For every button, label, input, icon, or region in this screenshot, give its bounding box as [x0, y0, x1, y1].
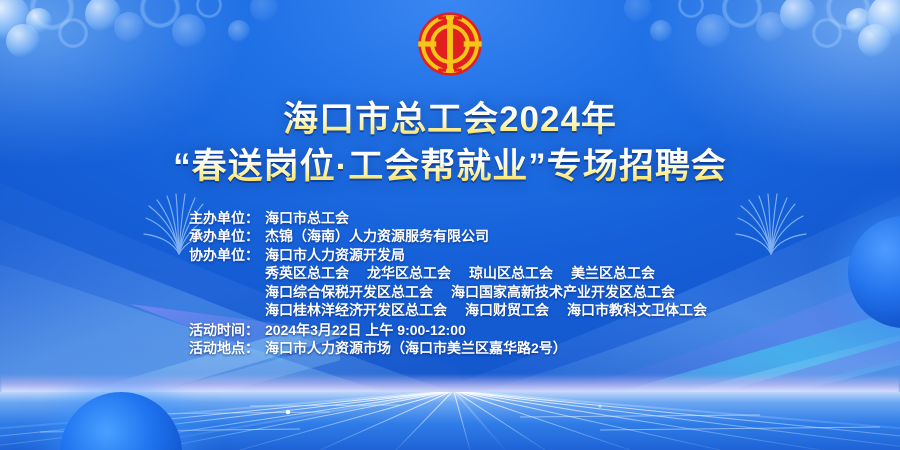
coorganizer-list-line-2: 海口综合保税开发区总工会 海口国家高新技术产业开发区总工会: [0, 283, 900, 301]
info-row-coorganizer: 协办单位： 海口市人力资源开发局: [0, 246, 900, 264]
host-value: 杰锦（海南）人力资源服务有限公司: [265, 227, 489, 245]
coorganizer-item: 琼山区总工会: [469, 264, 553, 282]
event-info-block: 主办单位： 海口市总工会 承办单位： 杰锦（海南）人力资源服务有限公司 协办单位…: [0, 209, 900, 358]
info-row-place: 活动地点： 海口市人力资源市场（海口市美兰区嘉华路2号）: [0, 339, 900, 357]
union-emblem-icon: [417, 11, 483, 77]
info-row-organizer: 主办单位： 海口市总工会: [0, 209, 900, 227]
coorganizer-item: 龙华区总工会: [367, 264, 451, 282]
organizer-label: 主办单位：: [189, 209, 265, 227]
info-row-time: 活动时间： 2024年3月22日 上午 9:00-12:00: [0, 321, 900, 339]
coorganizer-item: 海口市教科文卫体工会: [567, 301, 707, 319]
union-emblem: [417, 11, 483, 77]
coorganizer-item: 海口综合保税开发区总工会: [265, 283, 433, 301]
event-poster-banner: 海口市总工会2024年 “春送岗位·工会帮就业”专场招聘会 主办单位： 海口市总…: [0, 0, 900, 450]
coorganizer-item: 海口财贸工会: [465, 301, 549, 319]
title-block: 海口市总工会2024年 “春送岗位·工会帮就业”专场招聘会: [0, 100, 900, 187]
coorganizer-value: 海口市人力资源开发局: [265, 246, 405, 264]
coorganizer-item: 美兰区总工会: [571, 264, 655, 282]
coorganizer-list-line-1: 秀英区总工会 龙华区总工会 琼山区总工会 美兰区总工会: [0, 264, 900, 282]
place-label: 活动地点：: [189, 339, 265, 357]
info-row-host: 承办单位： 杰锦（海南）人力资源服务有限公司: [0, 227, 900, 245]
host-label: 承办单位：: [189, 227, 265, 245]
coorganizer-item: 秀英区总工会: [265, 264, 349, 282]
coorganizer-list-line-3: 海口桂林洋经济开发区总工会 海口财贸工会 海口市教科文卫体工会: [0, 301, 900, 319]
organizer-value: 海口市总工会: [265, 209, 349, 227]
page-title-line-1: 海口市总工会2024年: [0, 100, 900, 141]
coorganizer-label: 协办单位：: [189, 246, 265, 264]
page-title-line-2: “春送岗位·工会帮就业”专场招聘会: [0, 147, 900, 188]
time-label: 活动时间：: [189, 321, 265, 339]
place-value: 海口市人力资源市场（海口市美兰区嘉华路2号）: [265, 339, 567, 357]
time-value: 2024年3月22日 上午 9:00-12:00: [265, 321, 466, 339]
coorganizer-item: 海口国家高新技术产业开发区总工会: [451, 283, 675, 301]
coorganizer-item: 海口桂林洋经济开发区总工会: [265, 301, 447, 319]
